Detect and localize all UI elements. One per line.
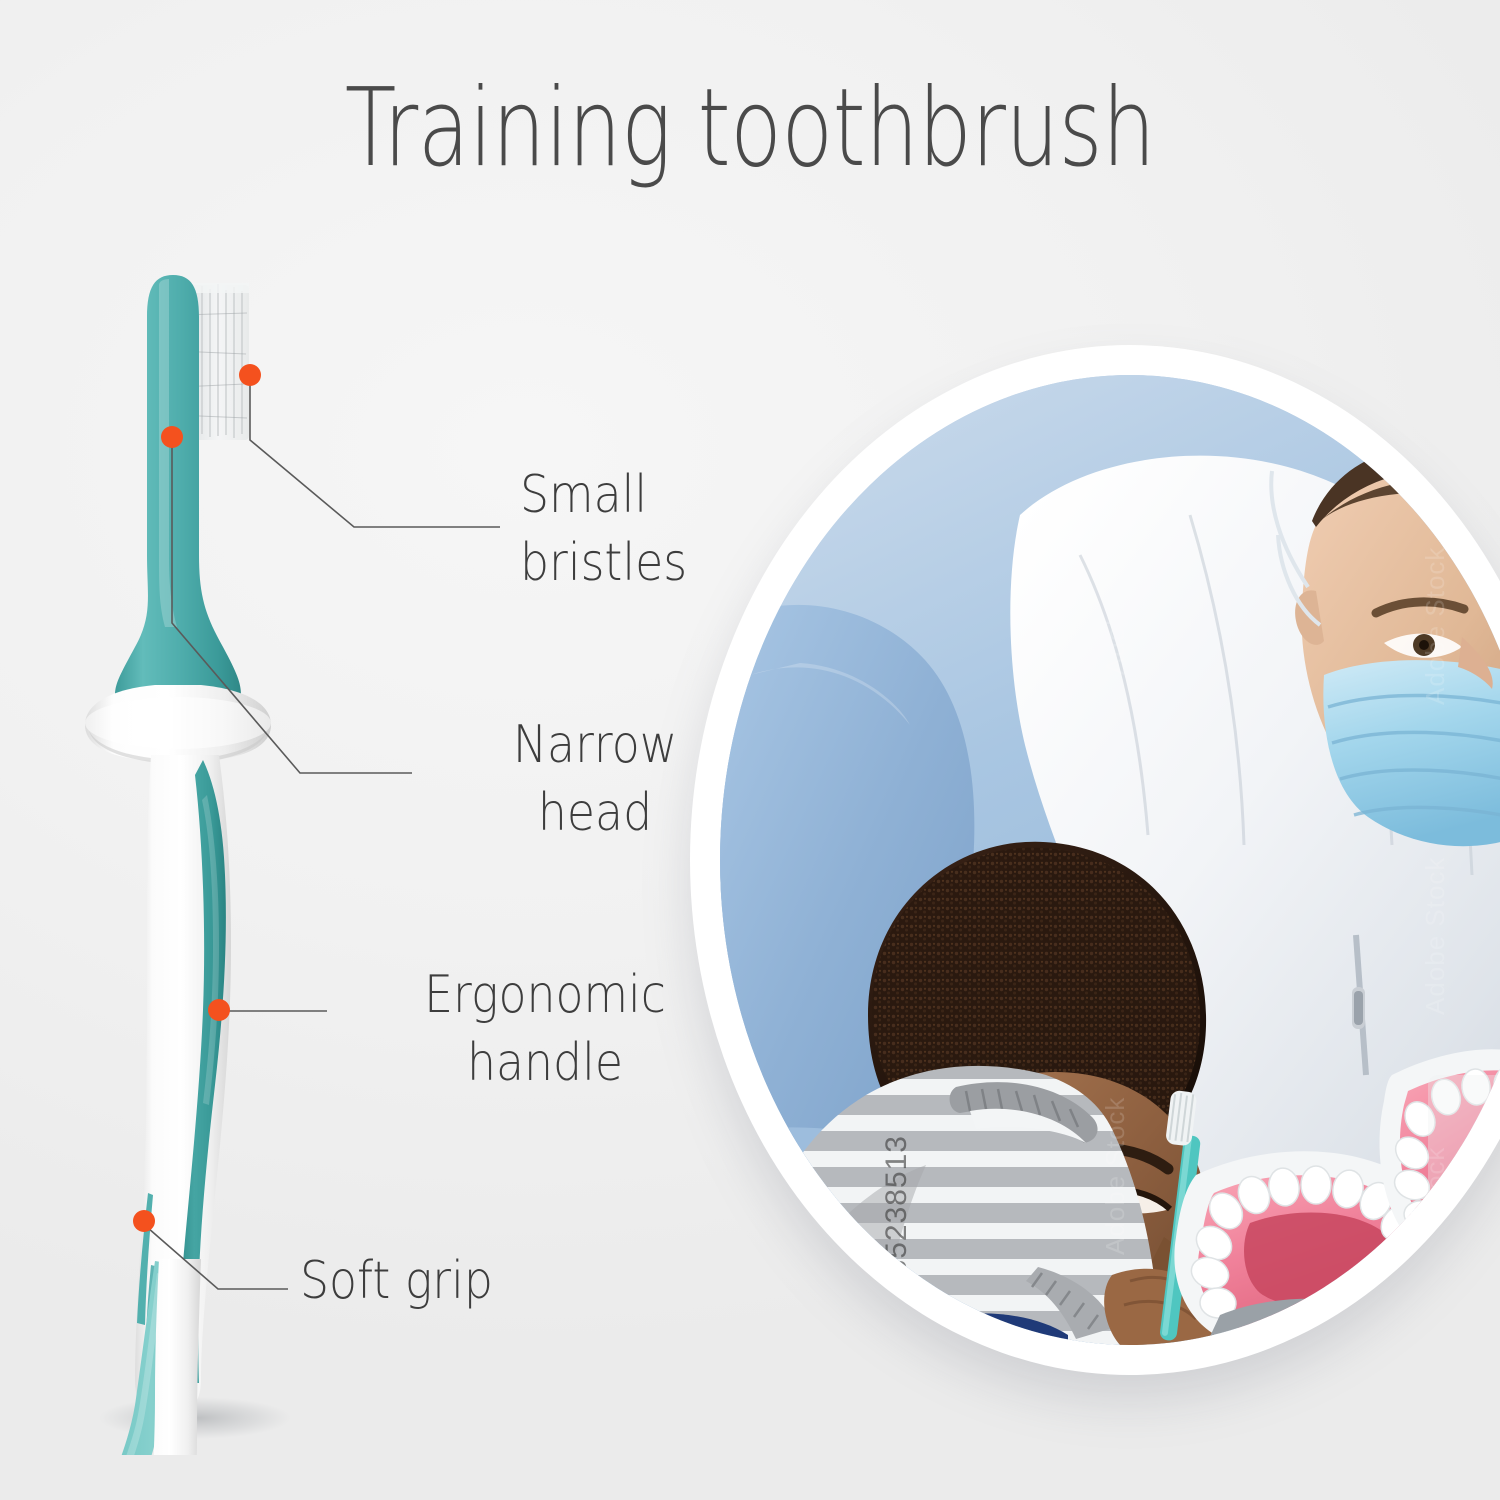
photo-watermark-brand-2: Adobe Stock [1420, 857, 1451, 1015]
photo-circle: 35238513 Adobe Stock Adobe Stock Adobe S… [690, 345, 1500, 1375]
photo-watermark-brand-3: Adobe Stock [1420, 1147, 1451, 1305]
photo-watermark-brand-4: Adobe Stock [1100, 517, 1131, 675]
photo-watermark-brand-1: Adobe Stock [1420, 547, 1451, 705]
photo-watermark-brand-5: Adobe Stock [1100, 1097, 1131, 1255]
callout-label-soft-grip: Soft grip [300, 1248, 617, 1316]
photo-image: 35238513 Adobe Stock Adobe Stock Adobe S… [720, 375, 1500, 1345]
callout-label-ergonomic-handle: Ergonomic handle [369, 962, 721, 1097]
infographic-page: Training toothbrush [0, 0, 1500, 1500]
page-title: Training toothbrush [165, 72, 1335, 185]
brush-collar [85, 685, 271, 764]
photo-watermark-number: 35238513 [880, 1135, 914, 1276]
